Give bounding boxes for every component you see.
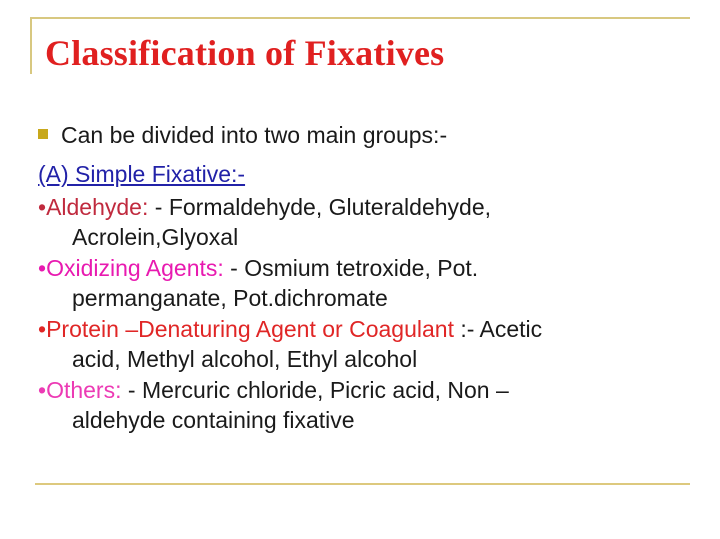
list-item-body: Mercuric chloride, Picric acid, Non – [142,377,509,403]
list-item-body: Formaldehyde, Gluteraldehyde, [169,194,491,220]
list-item-continuation: Acrolein,Glyoxal [47,222,678,252]
list-item-separator: :- [454,316,480,342]
list-item-body: Osmium tetroxide, Pot. [244,255,478,281]
list-item-label: Protein –Denaturing Agent or Coagulant [46,316,454,342]
list-item-separator: - [224,255,244,281]
list-item-continuation: acid, Methyl alcohol, Ethyl alcohol [47,344,678,374]
list-item: •Oxidizing Agents: - Osmium tetroxide, P… [38,253,678,313]
list-item: •Others: - Mercuric chloride, Picric aci… [38,375,678,435]
slide-title: Classification of Fixatives [45,32,444,74]
section-heading-simple-fixative[interactable]: (A) Simple Fixative:- [38,159,245,190]
round-bullet-icon: • [38,194,46,220]
list-item-separator: - [121,377,141,403]
left-accent-rule [30,18,32,74]
list-item-label: Oxidizing Agents: [46,255,224,281]
round-bullet-icon: • [38,316,46,342]
list-item-body: Acetic [480,316,543,342]
list-item: •Aldehyde: - Formaldehyde, Gluteraldehyd… [38,192,678,252]
lead-bullet-text: Can be divided into two main groups:- [61,120,447,150]
slide-canvas: Classification of Fixatives Can be divid… [0,0,720,539]
list-item-label: Others: [46,377,121,403]
square-bullet-icon [38,129,48,139]
slide-body: Can be divided into two main groups:- (A… [38,120,678,436]
list-item-continuation: aldehyde containing fixative [47,405,678,435]
round-bullet-icon: • [38,255,46,281]
list-item-continuation: permanganate, Pot.dichromate [47,283,678,313]
bottom-divider-rule [35,483,690,485]
round-bullet-icon: • [38,377,46,403]
lead-bullet-line: Can be divided into two main groups:- [38,120,678,150]
list-item-label: Aldehyde: [46,194,148,220]
list-item: •Protein –Denaturing Agent or Coagulant … [38,314,678,374]
list-item-separator: - [148,194,168,220]
top-divider-rule [30,17,690,19]
